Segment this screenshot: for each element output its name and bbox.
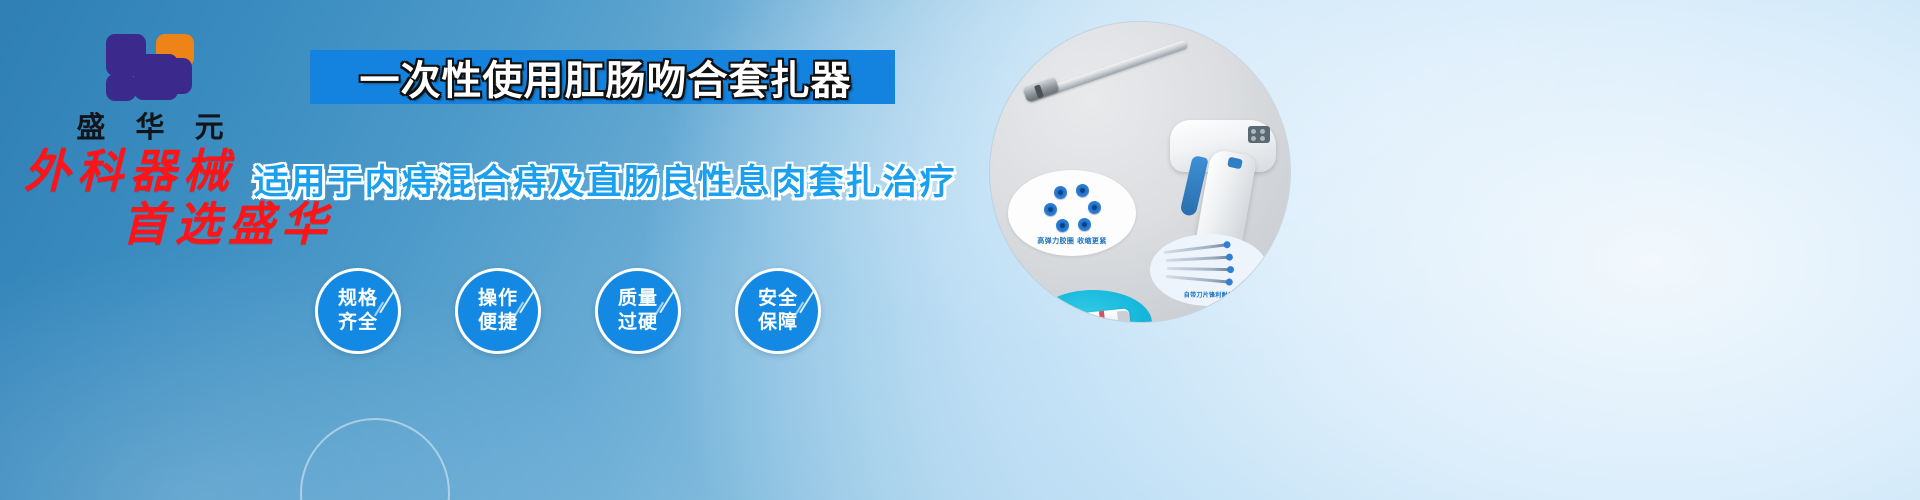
- page-title: 一次性使用肛肠吻合套扎器: [318, 52, 893, 102]
- feature-badge-specifications[interactable]: 规格 齐全: [315, 268, 401, 354]
- badge-line-2: 保障: [758, 311, 798, 335]
- badge-line-1: 安全: [758, 287, 798, 311]
- badge-line-1: 规格: [338, 287, 378, 311]
- slogan-line-2: 首选盛华: [12, 201, 342, 248]
- badge-line-2: 齐全: [338, 311, 378, 335]
- badge-line-1: 质量: [618, 287, 658, 311]
- rubber-rings-caption: 高弹力胶圈 收缩更紧: [1008, 236, 1136, 246]
- badge-line-2: 过硬: [618, 311, 658, 335]
- product-photo: 高弹力胶圈 收缩更紧 自带刀片锋利耐用: [990, 22, 1290, 322]
- badge-line-1: 操作: [478, 287, 518, 311]
- shenghuayuan-logo-mark-icon: [104, 28, 196, 104]
- blades-inset: 自带刀片锋利耐用: [1150, 234, 1268, 306]
- page-subtitle: 适用于内痔混合痔及直肠良性息肉套扎治疗: [295, 155, 915, 203]
- decorative-arc: [300, 418, 450, 500]
- rubber-rings-inset: 高弹力胶圈 收缩更紧: [1008, 170, 1136, 256]
- feature-badges: 规格 齐全 操作 便捷 质量 过硬 安全 保障: [315, 268, 821, 354]
- blades-caption: 自带刀片锋利耐用: [1150, 290, 1268, 299]
- feature-badge-operation[interactable]: 操作 便捷: [455, 268, 541, 354]
- badge-line-2: 便捷: [478, 311, 518, 335]
- anoscope-tube: [1055, 308, 1131, 322]
- brand-name: 盛 华 元: [55, 113, 245, 142]
- feature-badge-quality[interactable]: 质量 过硬: [595, 268, 681, 354]
- feature-badge-safety[interactable]: 安全 保障: [735, 268, 821, 354]
- product-banner: 盛 华 元 外科器械 首选盛华 一次性使用肛肠吻合套扎器 适用于内痔混合痔及直肠…: [0, 0, 1920, 500]
- device-control-pad: [1248, 126, 1270, 143]
- brand-logo[interactable]: 盛 华 元: [55, 28, 245, 142]
